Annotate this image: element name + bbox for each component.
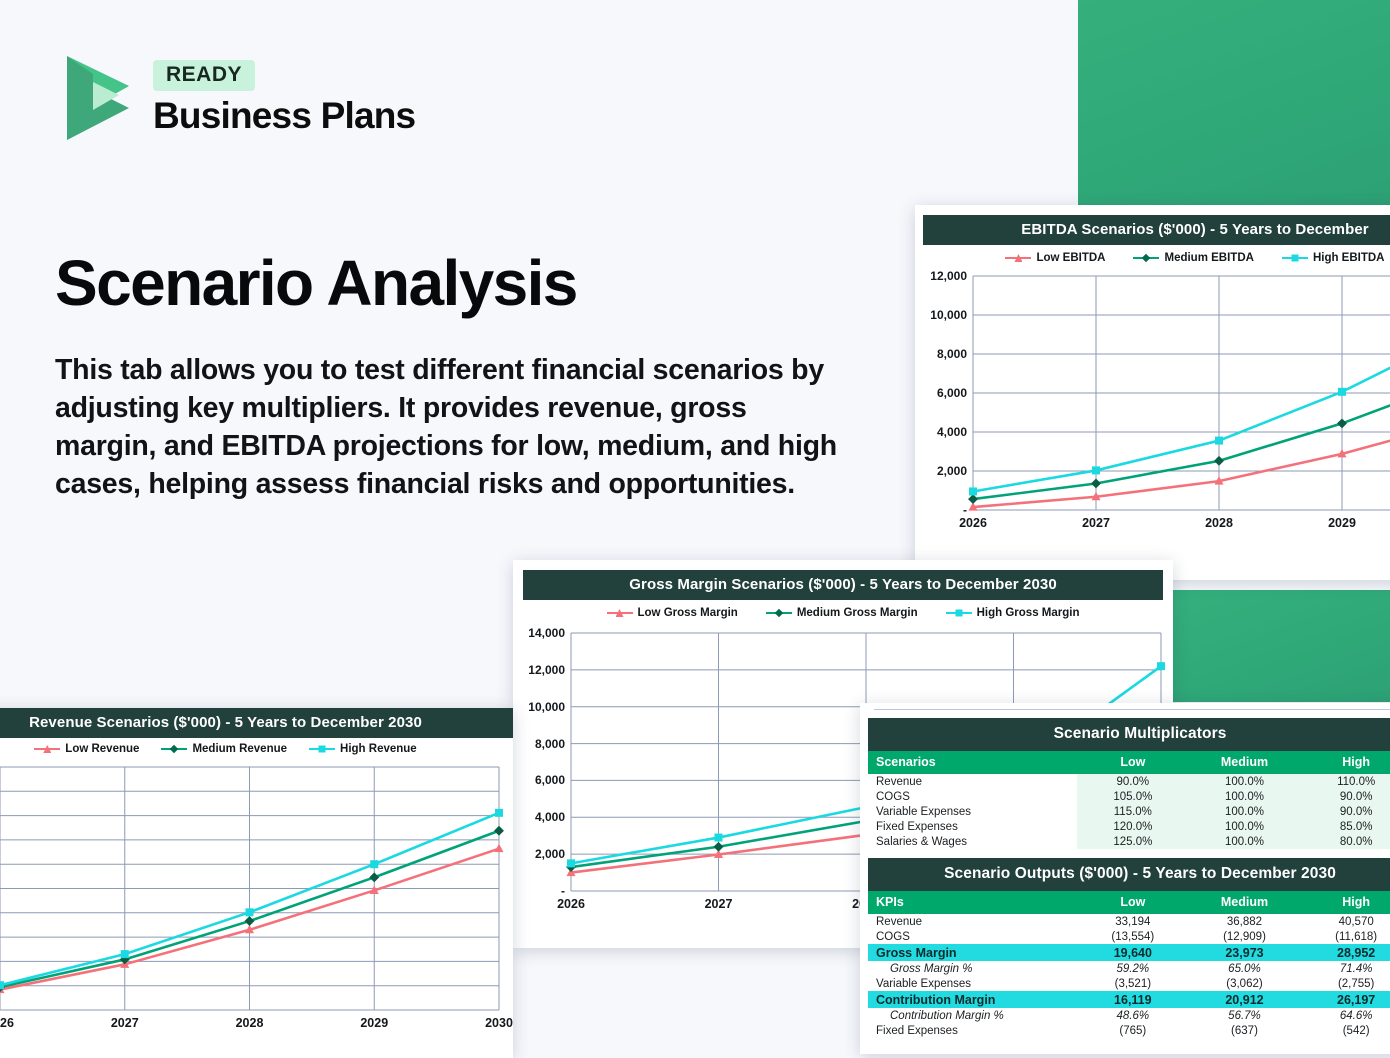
cell-label: Contribution Margin (868, 991, 1077, 1008)
table-row: Gross Margin19,64023,97328,952 (868, 944, 1390, 961)
scenario-outputs-table: KPIs Low Medium High Revenue33,19436,882… (868, 891, 1390, 1038)
legend-swatch-medium-revenue (161, 748, 187, 751)
cell-medium: 20,912 (1189, 991, 1301, 1008)
cell-medium: 65.0% (1189, 961, 1301, 976)
y-axis-tick: - (511, 884, 565, 898)
legend-item-medium-ebitda: Medium EBITDA (1133, 252, 1253, 264)
legend-label-low-ebitda: Low EBITDA (1036, 252, 1105, 264)
cell-label: Gross Margin % (868, 961, 1077, 976)
cell-high: (11,618) (1300, 929, 1390, 944)
legend-swatch-medium-ebitda (1133, 257, 1159, 260)
cell-high: (2,755) (1300, 976, 1390, 991)
gross-margin-chart-title: Gross Margin Scenarios ($'000) - 5 Years… (523, 570, 1163, 600)
y-axis-tick: 14,000 (511, 626, 565, 640)
brand-name: Business Plans (153, 97, 415, 136)
ready-badge: READY (153, 60, 255, 91)
outputs-banner: Scenario Outputs ($'000) - 5 Years to De… (868, 858, 1390, 891)
legend-item-medium-gross-margin: Medium Gross Margin (766, 607, 918, 619)
y-axis: 12,00010,0008,0006,0004,0002,000- (915, 266, 973, 546)
decorative-green-block-middle-right (1170, 590, 1390, 702)
x-axis-tick: 2029 (312, 1016, 437, 1030)
cell-low: 16,119 (1077, 991, 1189, 1008)
y-axis-tick: 10,000 (511, 700, 565, 714)
revenue-chart-title: Revenue Scenarios ($'000) - 5 Years to D… (0, 708, 513, 738)
x-axis-tick: 2026 (912, 516, 1035, 530)
cell-medium: 56.7% (1189, 1008, 1301, 1023)
table-row: Variable Expenses(3,521)(3,062)(2,755) (868, 976, 1390, 991)
legend-label-medium-ebitda: Medium EBITDA (1164, 252, 1253, 264)
cell-low: (765) (1077, 1023, 1189, 1038)
cell-low: 48.6% (1077, 1008, 1189, 1023)
legend-label-high-ebitda: High EBITDA (1313, 252, 1385, 264)
y-axis-tick: 10,000 (913, 308, 967, 322)
cell-medium: 23,973 (1189, 944, 1301, 961)
legend-swatch-high-gross-margin (946, 612, 972, 615)
outputs-header-low: Low (1077, 891, 1189, 914)
cell-low: 125.0% (1077, 834, 1189, 849)
legend-label-medium-gross-margin: Medium Gross Margin (797, 607, 918, 619)
cell-label: COGS (868, 929, 1077, 944)
y-axis-tick: 12,000 (511, 663, 565, 677)
x-axis-tick: 2030 (437, 1016, 562, 1030)
y-axis-tick: 8,000 (913, 347, 967, 361)
y-axis-tick: 8,000 (511, 737, 565, 751)
legend-label-high-revenue: High Revenue (340, 743, 417, 755)
multiplicators-header-medium: Medium (1189, 751, 1301, 774)
cell-label: COGS (868, 789, 1077, 804)
cell-label: Gross Margin (868, 944, 1077, 961)
table-row: COGS105.0%100.0%90.0% (868, 789, 1390, 804)
scenario-multiplicators-table: Scenarios Low Medium High Revenue90.0%10… (868, 751, 1390, 849)
page-description: This tab allows you to test different fi… (55, 351, 855, 504)
cell-label: Variable Expenses (868, 804, 1077, 819)
cell-high: 40,570 (1300, 914, 1390, 929)
cell-high: 64.6% (1300, 1008, 1390, 1023)
scenario-tables-card: Scenario Multiplicators Scenarios Low Me… (860, 703, 1390, 1054)
y-axis-tick: 6,000 (913, 386, 967, 400)
cell-high: 80.0% (1300, 834, 1390, 849)
x-axis: 20262027202820292030 (0, 1016, 561, 1030)
brand-logo: READY Business Plans (55, 52, 415, 144)
multiplicators-banner: Scenario Multiplicators (868, 718, 1390, 751)
legend-item-low-gross-margin: Low Gross Margin (607, 607, 738, 619)
table-row: Revenue33,19436,88240,570 (868, 914, 1390, 929)
cell-low: 115.0% (1077, 804, 1189, 819)
table-row: COGS(13,554)(12,909)(11,618) (868, 929, 1390, 944)
y-axis-tick: 4,000 (511, 810, 565, 824)
x-axis-tick: 2028 (1158, 516, 1281, 530)
x-axis-tick: 2029 (1281, 516, 1390, 530)
table-row: Fixed Expenses(765)(637)(542) (868, 1023, 1390, 1038)
decorative-green-block-top-right (1078, 0, 1390, 206)
x-axis: 20262027202820292030 (912, 516, 1390, 530)
legend-swatch-high-revenue (309, 748, 335, 751)
cell-high: 26,197 (1300, 991, 1390, 1008)
cell-low: 90.0% (1077, 774, 1189, 789)
cell-label: Revenue (868, 774, 1077, 789)
cell-label: Variable Expenses (868, 976, 1077, 991)
page-title: Scenario Analysis (55, 251, 577, 315)
multiplicators-header-row: Scenarios Low Medium High (868, 751, 1390, 774)
legend-label-low-gross-margin: Low Gross Margin (638, 607, 738, 619)
cell-label: Contribution Margin % (868, 1008, 1077, 1023)
cell-label: Salaries & Wages (868, 834, 1077, 849)
x-axis-tick: 2027 (1035, 516, 1158, 530)
cell-high: 90.0% (1300, 789, 1390, 804)
table-row: Contribution Margin16,11920,91226,197 (868, 991, 1390, 1008)
cell-low: 19,640 (1077, 944, 1189, 961)
table-row: Salaries & Wages125.0%100.0%80.0% (868, 834, 1390, 849)
cell-high: 28,952 (1300, 944, 1390, 961)
cell-medium: 100.0% (1189, 789, 1301, 804)
legend-label-medium-revenue: Medium Revenue (192, 743, 287, 755)
legend-label-low-revenue: Low Revenue (65, 743, 139, 755)
table-row: Revenue90.0%100.0%110.0% (868, 774, 1390, 789)
ebitda-chart-card: EBITDA Scenarios ($'000) - 5 Years to De… (915, 205, 1390, 580)
legend-swatch-low-ebitda (1005, 257, 1031, 260)
table-row: Contribution Margin %48.6%56.7%64.6% (868, 1008, 1390, 1023)
cell-medium: 100.0% (1189, 819, 1301, 834)
play-arrow-logo-icon (55, 52, 135, 144)
legend-item-low-ebitda: Low EBITDA (1005, 252, 1105, 264)
x-axis-tick: 2026 (497, 897, 645, 911)
cell-medium: (3,062) (1189, 976, 1301, 991)
cell-low: (3,521) (1077, 976, 1189, 991)
cell-low: 105.0% (1077, 789, 1189, 804)
outputs-header-kpis: KPIs (868, 891, 1077, 914)
legend-item-high-revenue: High Revenue (309, 743, 417, 755)
legend-swatch-low-revenue (34, 748, 60, 751)
y-axis: 14,00012,00010,0008,0006,0004,0002,000- (513, 621, 571, 931)
y-axis-tick: - (913, 503, 967, 517)
multiplicators-header-high: High (1300, 751, 1390, 774)
multiplicators-header-low: Low (1077, 751, 1189, 774)
table-card-rule (874, 709, 1390, 712)
x-axis-tick: 2026 (0, 1016, 62, 1030)
revenue-chart-card: Revenue Scenarios ($'000) - 5 Years to D… (0, 708, 513, 1058)
legend-item-high-ebitda: High EBITDA (1282, 252, 1385, 264)
table-row: Fixed Expenses120.0%100.0%85.0% (868, 819, 1390, 834)
cell-label: Fixed Expenses (868, 819, 1077, 834)
cell-high: 90.0% (1300, 804, 1390, 819)
cell-label: Revenue (868, 914, 1077, 929)
cell-high: 110.0% (1300, 774, 1390, 789)
ebitda-chart-legend: Low EBITDA Medium EBITDA High EBITDA (915, 245, 1390, 266)
revenue-plot-area: 20262027202820292030 (0, 757, 513, 1042)
x-axis-tick: 2028 (187, 1016, 312, 1030)
y-axis-tick: 4,000 (913, 425, 967, 439)
cell-low: (13,554) (1077, 929, 1189, 944)
legend-swatch-high-ebitda (1282, 257, 1308, 260)
gross-margin-chart-legend: Low Gross Margin Medium Gross Margin Hig… (513, 600, 1173, 621)
outputs-header-row: KPIs Low Medium High (868, 891, 1390, 914)
cell-low: 33,194 (1077, 914, 1189, 929)
outputs-header-high: High (1300, 891, 1390, 914)
multiplicators-header-scenarios: Scenarios (868, 751, 1077, 774)
ebitda-plot-area: 12,00010,0008,0006,0004,0002,000-2026202… (915, 266, 1390, 546)
cell-medium: 100.0% (1189, 834, 1301, 849)
y-axis-tick: 6,000 (511, 773, 565, 787)
x-axis-tick: 2027 (62, 1016, 187, 1030)
cell-label: Fixed Expenses (868, 1023, 1077, 1038)
legend-swatch-medium-gross-margin (766, 612, 792, 615)
legend-item-high-gross-margin: High Gross Margin (946, 607, 1080, 619)
ebitda-chart-title: EBITDA Scenarios ($'000) - 5 Years to De… (923, 215, 1390, 245)
y-axis-tick: 2,000 (913, 464, 967, 478)
legend-item-low-revenue: Low Revenue (34, 743, 139, 755)
legend-label-high-gross-margin: High Gross Margin (977, 607, 1080, 619)
cell-medium: (637) (1189, 1023, 1301, 1038)
cell-high: (542) (1300, 1023, 1390, 1038)
revenue-chart-legend: Low Revenue Medium Revenue High Revenue (0, 738, 513, 757)
cell-medium: 100.0% (1189, 804, 1301, 819)
cell-low: 120.0% (1077, 819, 1189, 834)
table-row: Gross Margin %59.2%65.0%71.4% (868, 961, 1390, 976)
x-axis-tick: 2027 (645, 897, 793, 911)
cell-medium: 100.0% (1189, 774, 1301, 789)
cell-high: 85.0% (1300, 819, 1390, 834)
y-axis-tick: 2,000 (511, 847, 565, 861)
legend-item-medium-revenue: Medium Revenue (161, 743, 287, 755)
table-row: Variable Expenses115.0%100.0%90.0% (868, 804, 1390, 819)
y-axis-tick: 12,000 (913, 269, 967, 283)
cell-medium: (12,909) (1189, 929, 1301, 944)
cell-high: 71.4% (1300, 961, 1390, 976)
outputs-header-medium: Medium (1189, 891, 1301, 914)
cell-medium: 36,882 (1189, 914, 1301, 929)
legend-swatch-low-gross-margin (607, 612, 633, 615)
cell-low: 59.2% (1077, 961, 1189, 976)
